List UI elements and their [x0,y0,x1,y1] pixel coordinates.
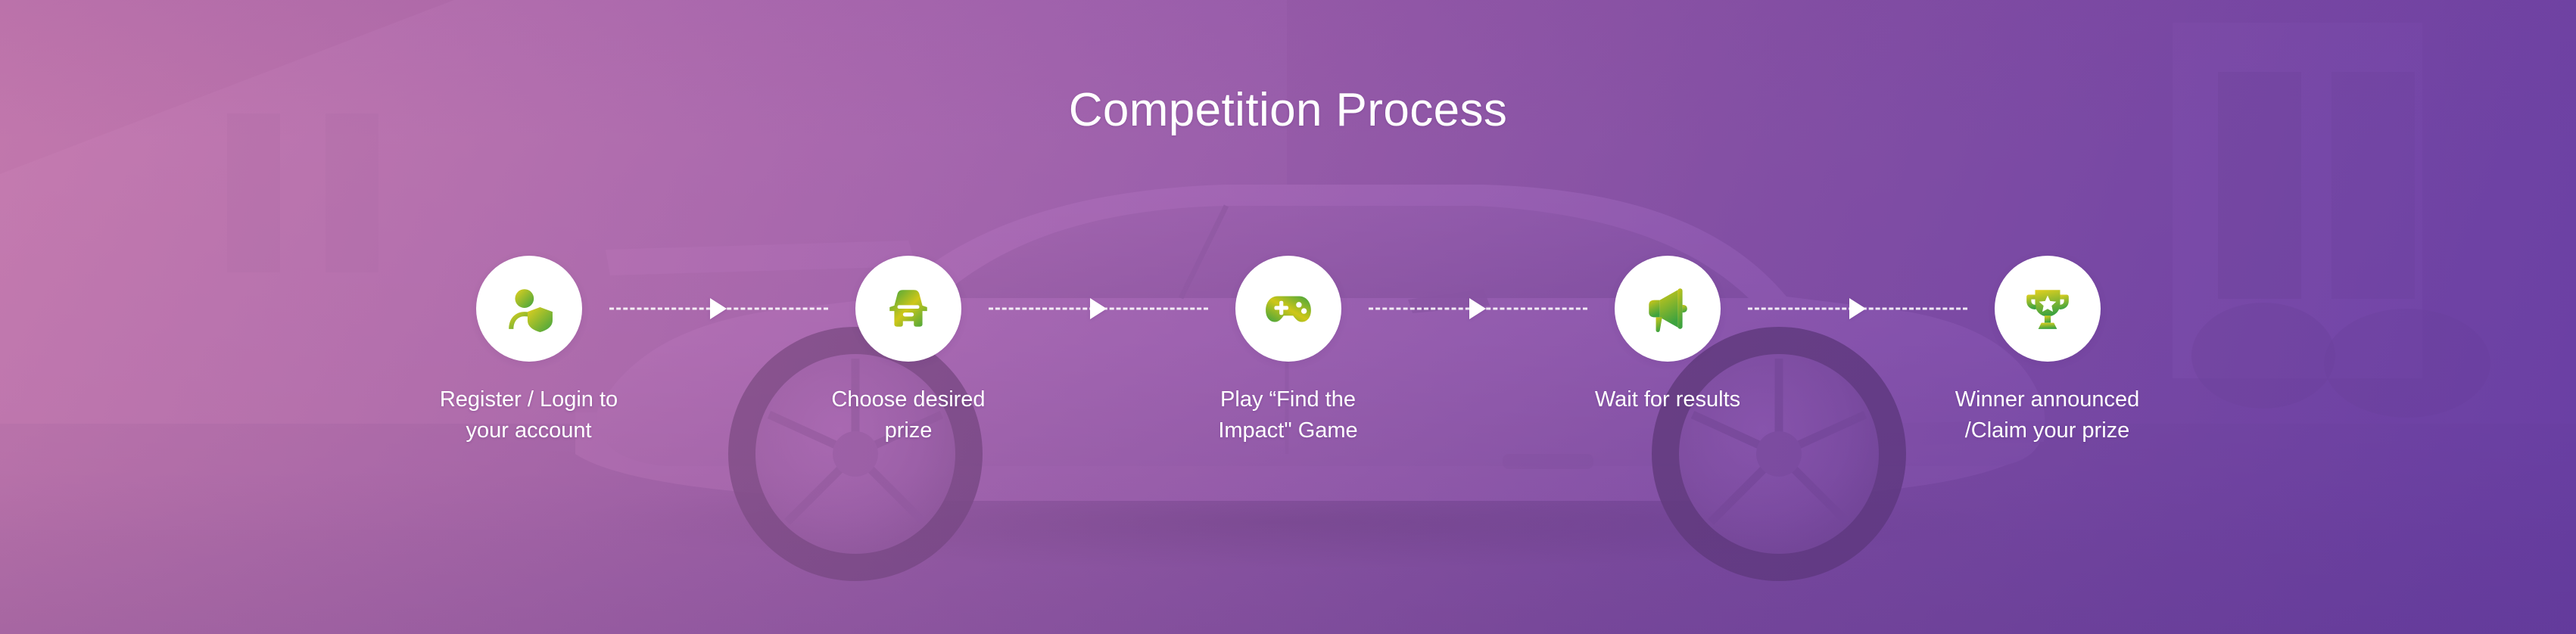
page-title: Competition Process [0,87,2576,134]
step-3-label: Play “Find the Impact" Game [1218,384,1357,446]
arrow-right-icon [1090,298,1107,319]
step-3-badge[interactable] [1235,256,1341,362]
competition-process-stepper: Register / Login to your account [376,256,2201,446]
gamepad-icon [1263,284,1313,334]
arrow-right-icon [710,298,727,319]
step-1-badge[interactable] [476,256,582,362]
step-2-label: Choose desired prize [831,384,985,446]
step-5-label: Winner announced /Claim your prize [1955,384,2139,446]
step-2-badge[interactable] [855,256,961,362]
process-connector-3 [1369,256,1588,362]
megaphone-icon [1643,284,1693,334]
process-connector-2 [989,256,1208,362]
competition-process-banner: Competition Process [0,0,2576,634]
car-icon [883,284,933,334]
user-shield-icon [504,284,554,334]
step-4-badge[interactable] [1615,256,1721,362]
step-5-badge[interactable] [1995,256,2101,362]
process-connector-1 [609,256,829,362]
step-4-label: Wait for results [1595,384,1740,415]
process-connector-4 [1748,256,1967,362]
arrow-right-icon [1849,298,1866,319]
step-1-label: Register / Login to your account [440,384,618,446]
trophy-icon [2023,284,2073,334]
arrow-right-icon [1469,298,1486,319]
